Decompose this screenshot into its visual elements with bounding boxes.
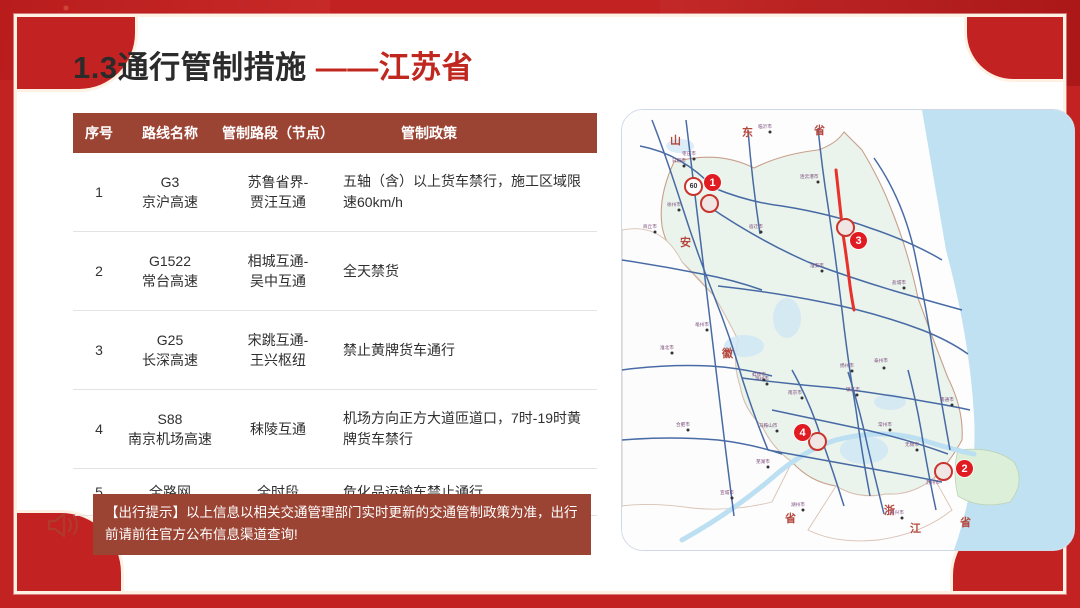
travel-tip-text: 【出行提示】以上信息以相关交通管理部门实时更新的交通管制政策为准，出行前请前往官… <box>93 494 591 555</box>
row-route-line2: 京沪高速 <box>125 192 215 212</box>
jiangsu-map[interactable]: 山东省 安徽省 浙江省 枣庄市 徐州市 宿迁市 连云港市 淮安市 盐城市 扬州市… <box>621 109 1075 551</box>
svg-text:马鞍山市: 马鞍山市 <box>759 422 778 429</box>
svg-text:徐州市: 徐州市 <box>667 201 681 208</box>
truck-restriction-sign-icon-2 <box>934 462 953 481</box>
row-route-line2: 长深高速 <box>125 350 215 370</box>
row-segment-line1: 苏鲁省界- <box>215 172 341 192</box>
slide-root: 1.3通行管制措施 ——江苏省 序号 路线名称 管制路段（节点） 管制政策 1 … <box>0 0 1080 608</box>
svg-text:省: 省 <box>959 515 971 529</box>
row-segment-line1: 宋跳互通- <box>215 330 341 350</box>
truck-restriction-sign-icon-4 <box>808 432 827 451</box>
speaker-icon <box>43 508 83 542</box>
svg-text:东: 东 <box>742 125 753 139</box>
row-route-line1: G25 <box>125 330 215 350</box>
page-title: 1.3通行管制措施 ——江苏省 <box>73 42 473 87</box>
row-no: 2 <box>73 263 125 279</box>
column-header-segment: 管制路段（节点） <box>215 123 341 143</box>
row-segment-line1: 相城互通- <box>215 251 341 271</box>
row-segment-line2: 吴中互通 <box>215 271 341 291</box>
svg-text:安: 安 <box>680 235 691 249</box>
svg-text:南京市: 南京市 <box>788 389 802 396</box>
row-no: 3 <box>73 342 125 358</box>
svg-text:盐城市: 盐城市 <box>892 279 906 286</box>
svg-text:宿迁市: 宿迁市 <box>749 223 763 230</box>
row-segment: 秣陵互通 <box>215 419 341 439</box>
row-segment: 相城互通- 吴中互通 <box>215 251 341 292</box>
row-no: 1 <box>73 184 125 200</box>
svg-text:淮安市: 淮安市 <box>810 262 824 269</box>
svg-text:枣庄市: 枣庄市 <box>682 150 696 157</box>
svg-text:省: 省 <box>813 123 825 137</box>
svg-text:淮北市: 淮北市 <box>660 344 674 351</box>
row-policy: 禁止黄牌货车通行 <box>341 340 597 361</box>
row-segment-line1: 秣陵互通 <box>215 419 341 439</box>
row-route-line2: 常台高速 <box>125 271 215 291</box>
page-title-main: 1.3通行管制措施 <box>73 50 316 85</box>
row-route-line1: S88 <box>125 409 215 429</box>
corner-notch-top-right <box>967 17 1063 79</box>
svg-text:山: 山 <box>670 133 681 147</box>
row-segment: 宋跳互通- 王兴枢纽 <box>215 330 341 371</box>
map-canvas: 山东省 安徽省 浙江省 枣庄市 徐州市 宿迁市 连云港市 淮安市 盐城市 扬州市… <box>622 110 1074 550</box>
svg-text:扬州市: 扬州市 <box>840 362 854 369</box>
svg-text:常州市: 常州市 <box>878 421 892 428</box>
svg-text:宣城市: 宣城市 <box>720 489 734 496</box>
row-route: G1522 常台高速 <box>125 251 215 292</box>
svg-text:日照市: 日照市 <box>672 157 686 164</box>
row-policy: 全天禁货 <box>341 261 597 282</box>
table-header-row: 序号 路线名称 管制路段（节点） 管制政策 <box>73 113 597 153</box>
row-route: S88 南京机场高速 <box>125 409 215 450</box>
table-row: 3 G25 长深高速 宋跳互通- 王兴枢纽 禁止黄牌货车通行 <box>73 311 597 390</box>
speed-limit-60-sign-icon: 60 <box>684 177 703 196</box>
svg-text:泰州市: 泰州市 <box>874 357 888 364</box>
row-no: 4 <box>73 421 125 437</box>
column-header-route: 路线名称 <box>125 123 215 143</box>
svg-text:南通市: 南通市 <box>940 396 954 403</box>
svg-text:江: 江 <box>910 521 921 535</box>
truck-restriction-sign-icon-1 <box>700 194 719 213</box>
table-row: 2 G1522 常台高速 相城互通- 吴中互通 全天禁货 <box>73 232 597 311</box>
svg-text:苏州市: 苏州市 <box>926 479 940 486</box>
svg-text:亳州市: 亳州市 <box>695 321 709 328</box>
column-header-no: 序号 <box>73 123 125 143</box>
svg-text:镇江市: 镇江市 <box>846 386 860 393</box>
traffic-control-table: 序号 路线名称 管制路段（节点） 管制政策 1 G3 京沪高速 苏鲁省界- 贾汪… <box>73 113 597 516</box>
column-header-policy: 管制政策 <box>341 123 597 143</box>
svg-text:湖州市: 湖州市 <box>791 501 805 508</box>
row-route-line1: G1522 <box>125 251 215 271</box>
svg-text:蚌埠市: 蚌埠市 <box>752 371 766 378</box>
map-marker-4[interactable]: 4 <box>794 424 811 441</box>
svg-text:连云港市: 连云港市 <box>800 173 819 180</box>
row-route: G25 长深高速 <box>125 330 215 371</box>
svg-text:徽: 徽 <box>721 346 734 360</box>
row-policy: 五轴（含）以上货车禁行，施工区域限速60km/h <box>341 171 597 213</box>
row-route-line1: G3 <box>125 172 215 192</box>
row-policy: 机场方向正方大道匝道口，7时-19时黄牌货车禁行 <box>341 408 597 450</box>
row-route: G3 京沪高速 <box>125 172 215 213</box>
map-marker-2[interactable]: 2 <box>956 460 973 477</box>
row-segment: 苏鲁省界- 贾汪互通 <box>215 172 341 213</box>
svg-text:芜湖市: 芜湖市 <box>756 458 770 465</box>
row-route-line2: 南京机场高速 <box>125 429 215 449</box>
svg-text:合肥市: 合肥市 <box>676 421 690 428</box>
map-marker-3[interactable]: 3 <box>850 232 867 249</box>
row-segment-line2: 王兴枢纽 <box>215 350 341 370</box>
row-segment-line2: 贾汪互通 <box>215 192 341 212</box>
map-marker-1[interactable]: 1 <box>704 174 721 191</box>
svg-text:商丘市: 商丘市 <box>643 223 657 230</box>
svg-text:省: 省 <box>784 511 796 525</box>
page-title-accent: ——江苏省 <box>316 50 474 85</box>
travel-tip-bar: 【出行提示】以上信息以相关交通管理部门实时更新的交通管制政策为准，出行前请前往官… <box>43 494 591 555</box>
table-row: 1 G3 京沪高速 苏鲁省界- 贾汪互通 五轴（含）以上货车禁行，施工区域限速6… <box>73 153 597 232</box>
svg-text:临沂市: 临沂市 <box>758 123 772 130</box>
table-row: 4 S88 南京机场高速 秣陵互通 机场方向正方大道匝道口，7时-19时黄牌货车… <box>73 390 597 469</box>
content-panel: 1.3通行管制措施 ——江苏省 序号 路线名称 管制路段（节点） 管制政策 1 … <box>14 14 1066 594</box>
svg-text:无锡市: 无锡市 <box>905 441 919 448</box>
svg-text:嘉兴市: 嘉兴市 <box>890 509 904 516</box>
